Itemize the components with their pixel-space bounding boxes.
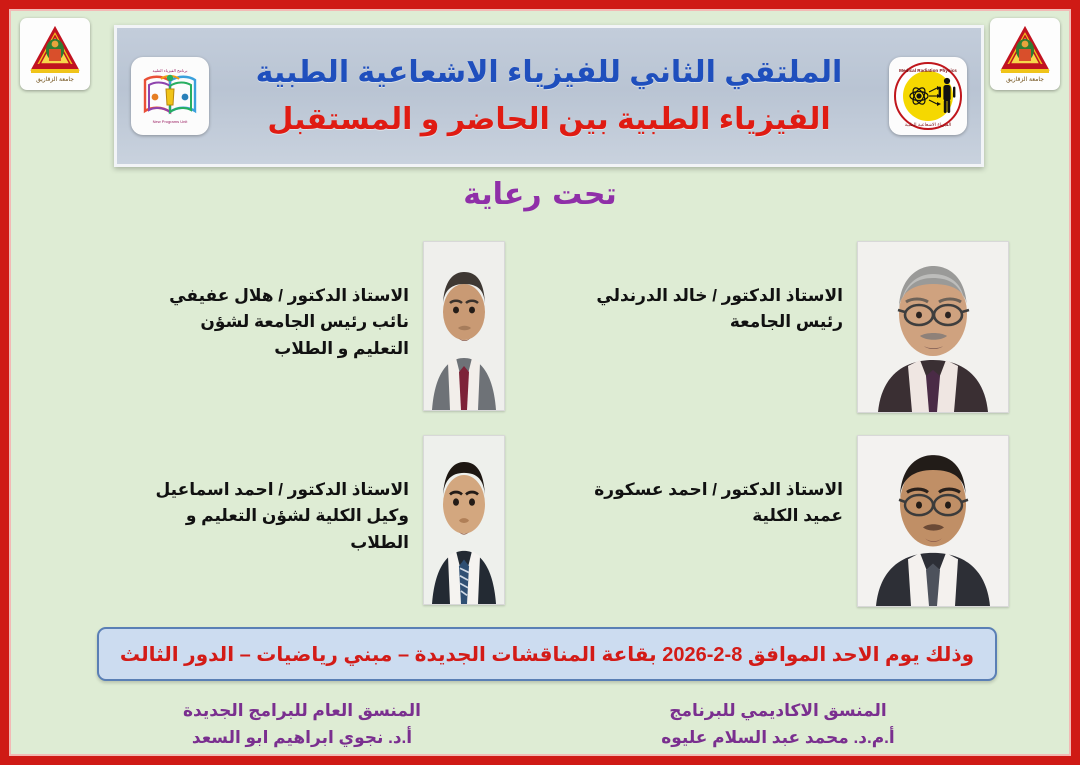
footer: المنسق الاكاديمي للبرنامج أ.م.د. محمد عب… — [64, 697, 1016, 751]
patron-name: الاستاذ الدكتور / هلال عفيفي — [169, 283, 409, 309]
patron-name: الاستاذ الدكتور / احمد اسماعيل — [155, 477, 409, 503]
patron-text: الاستاذ الدكتور / احمد عسكورة عميد الكلي… — [594, 435, 843, 530]
zagazig-university-logo-left: جامعة الزقازيق — [20, 18, 90, 90]
patron-helal-afifi: الاستاذ الدكتور / هلال عفيفي نائب رئيس ا… — [49, 241, 553, 409]
atom-radiation-icon: Medical Radiation Physics الفيزياء الاشع… — [893, 61, 963, 131]
svg-text:جامعة الزقازيق: جامعة الزقازيق — [1006, 76, 1044, 83]
portrait-khaled-eldarandaly — [859, 241, 1009, 411]
university-shield-icon: جامعة الزقازيق — [25, 23, 85, 85]
medical-radiation-physics-logo: Medical Radiation Physics الفيزياء الاشع… — [889, 57, 967, 135]
zagazig-university-logo-right: جامعة الزقازيق — [990, 18, 1060, 90]
portrait-ahmed-askoura — [859, 435, 1009, 605]
conference-title-primary: الملتقي الثاني للفيزياء الاشعاعية الطبية — [227, 54, 871, 92]
footer-right-name: أ.م.د. محمد عبد السلام عليوه — [540, 724, 1016, 751]
patrons-row-2: الاستاذ الدكتور / احمد عسكورة عميد الكلي… — [49, 435, 1031, 605]
event-date-text: وذلك يوم الاحد الموافق 8-2-2026 بقاعة ال… — [120, 642, 974, 667]
patron-text: الاستاذ الدكتور / هلال عفيفي نائب رئيس ا… — [169, 241, 409, 362]
svg-text:New Programs Unit: New Programs Unit — [153, 119, 189, 124]
footer-left-name: أ.د. نجوي ابراهيم ابو السعد — [64, 724, 540, 751]
patronage-label: تحت رعاية — [9, 177, 1071, 212]
patron-name: الاستاذ الدكتور / احمد عسكورة — [594, 477, 843, 503]
svg-text:Medical Radiation Physics: Medical Radiation Physics — [899, 68, 957, 73]
conference-poster: جامعة الزقازيق جامعة الزقازيق — [0, 0, 1080, 765]
patron-text: الاستاذ الدكتور / خالد الدرندلي رئيس الج… — [596, 241, 843, 336]
patron-role: رئيس الجامعة — [596, 309, 843, 335]
portrait-image — [424, 436, 504, 604]
svg-text:جامعة الزقازيق: جامعة الزقازيق — [36, 76, 74, 83]
patron-ahmed-ismail: الاستاذ الدكتور / احمد اسماعيل وكيل الكل… — [49, 435, 553, 603]
footer-left-title: المنسق العام للبرامج الجديدة — [64, 697, 540, 724]
portrait-image — [858, 436, 1008, 606]
patron-name: الاستاذ الدكتور / خالد الدرندلي — [596, 283, 843, 309]
header-banner: Medical Radiation Physics الفيزياء الاشع… — [114, 25, 984, 167]
portrait-ahmed-ismail — [425, 435, 505, 603]
footer-right-title: المنسق الاكاديمي للبرنامج — [540, 697, 1016, 724]
patron-role-line2: الطلاب — [155, 530, 409, 556]
svg-text:برنامج الفيزياء الطبية: برنامج الفيزياء الطبية — [152, 68, 187, 73]
open-book-icon: برنامج الفيزياء الطبية New Programs Unit — [135, 63, 205, 129]
university-shield-icon: جامعة الزقازيق — [995, 23, 1055, 85]
patrons-row-1: الاستاذ الدكتور / خالد الدرندلي رئيس الج… — [49, 241, 1031, 411]
patrons-grid: الاستاذ الدكتور / خالد الدرندلي رئيس الج… — [49, 241, 1031, 629]
patron-role-line2: التعليم و الطلاب — [169, 336, 409, 362]
patron-role: عميد الكلية — [594, 503, 843, 529]
event-date-banner: وذلك يوم الاحد الموافق 8-2-2026 بقاعة ال… — [97, 627, 997, 681]
portrait-image — [424, 242, 504, 410]
footer-right-block: المنسق الاكاديمي للبرنامج أ.م.د. محمد عب… — [540, 697, 1016, 751]
portrait-helal-afifi — [425, 241, 505, 409]
patron-text: الاستاذ الدكتور / احمد اسماعيل وكيل الكل… — [155, 435, 409, 556]
header-titles: الملتقي الثاني للفيزياء الاشعاعية الطبية… — [223, 54, 875, 139]
svg-text:الفيزياء الاشعاعية الطبية: الفيزياء الاشعاعية الطبية — [905, 123, 951, 128]
footer-left-block: المنسق العام للبرامج الجديدة أ.د. نجوي ا… — [64, 697, 540, 751]
patron-ahmed-askoura: الاستاذ الدكتور / احمد عسكورة عميد الكلي… — [553, 435, 1031, 605]
conference-title-secondary: الفيزياء الطبية بين الحاضر و المستقبل — [227, 101, 871, 139]
patron-khaled-eldarandaly: الاستاذ الدكتور / خالد الدرندلي رئيس الج… — [553, 241, 1031, 411]
patron-role-line1: وكيل الكلية لشؤن التعليم و — [155, 503, 409, 529]
new-programs-book-logo: برنامج الفيزياء الطبية New Programs Unit — [131, 57, 209, 135]
portrait-image — [858, 242, 1008, 412]
patron-role-line1: نائب رئيس الجامعة لشؤن — [169, 309, 409, 335]
